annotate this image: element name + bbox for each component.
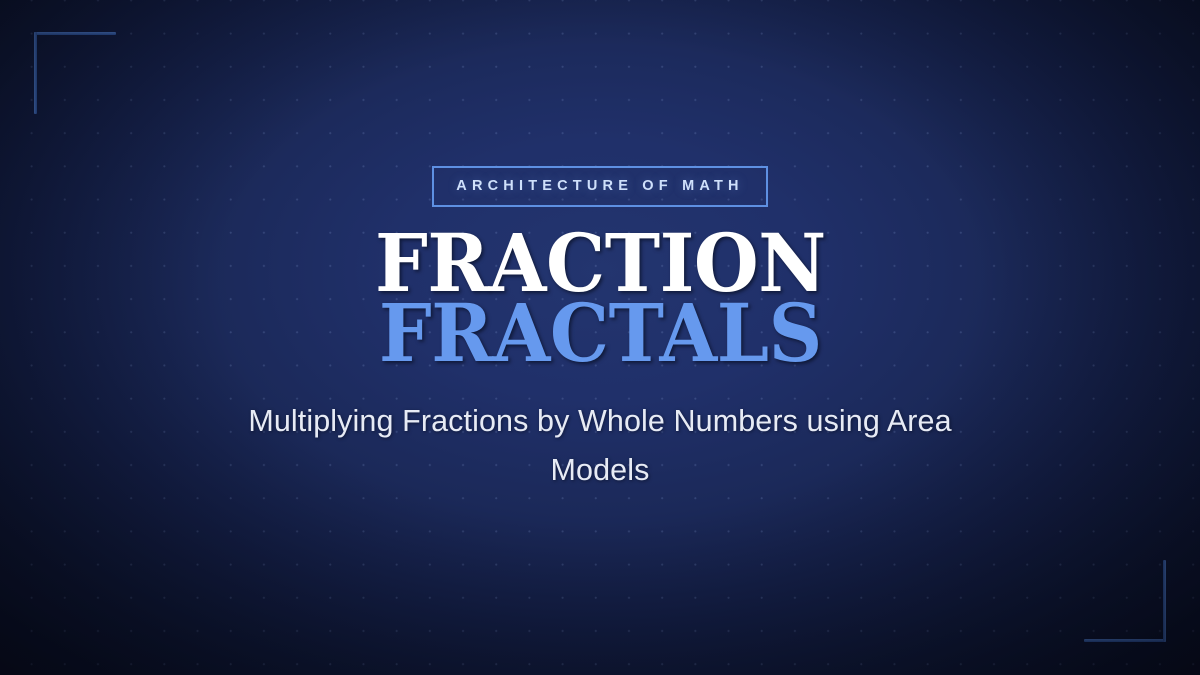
- title-line-accent: FRACTALS: [375, 295, 826, 371]
- page-title: FRACTION FRACTALS: [358, 225, 843, 371]
- slide-subtitle: Multiplying Fractions by Whole Numbers u…: [220, 397, 980, 496]
- eyebrow-badge: ARCHITECTURE OF MATH: [432, 166, 767, 207]
- eyebrow-label: ARCHITECTURE OF MATH: [456, 179, 743, 194]
- presentation-title-slide: ARCHITECTURE OF MATH FRACTION FRACTALS M…: [0, 0, 1200, 675]
- slide-content: ARCHITECTURE OF MATH FRACTION FRACTALS M…: [0, 0, 1200, 675]
